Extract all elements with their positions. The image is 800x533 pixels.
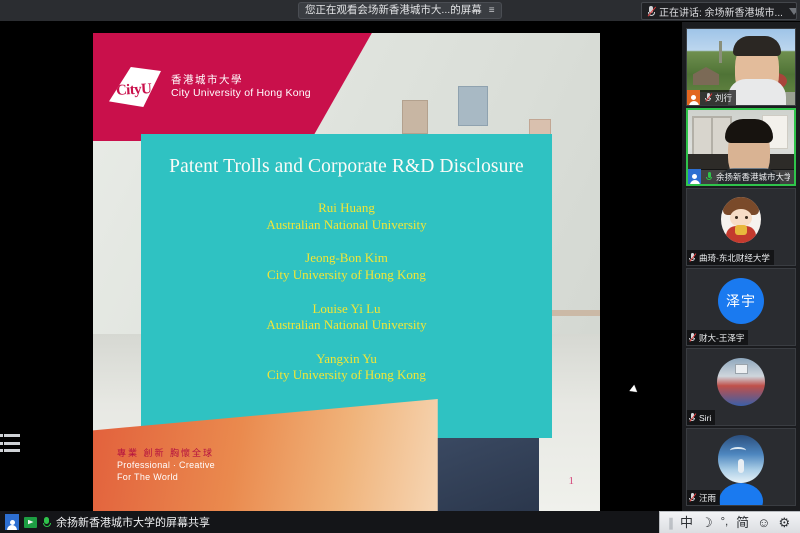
motto-cn: 專業 創新 胸懷全球 [117,447,215,459]
window-controls: ⤺ [789,5,797,17]
participant-tile[interactable]: 泽宇 财大-王泽宇 [686,268,796,346]
blue-person-icon [5,514,19,530]
mic-muted-icon [647,5,655,17]
hamburger-icon[interactable]: ≡ [489,6,495,16]
mic-on-icon [42,516,51,529]
participant-name: Siri [699,413,711,423]
top-bar: 您正在观看会场新香港城市大...的屏幕 ≡ 正在讲话: 余场新香港城市... ⤺ [0,0,800,22]
motto-en-line2: For The World [117,471,215,483]
participant-tile[interactable]: 汪雨 [686,428,796,506]
participant-tile[interactable]: 刘行 [686,28,796,106]
drag-grip-icon[interactable]: ∥ [668,516,672,530]
photo-avatar [717,358,765,406]
author-name: Louise Yi Lu [141,301,552,318]
participant-name: 财大-王泽宇 [699,332,744,344]
slide-title-card: Patent Trolls and Corporate R&D Disclosu… [141,134,552,438]
active-speaker-indicator[interactable]: 正在讲话: 余场新香港城市... ⤺ [641,2,797,20]
slide-title: Patent Trolls and Corporate R&D Disclosu… [169,156,524,178]
mouse-cursor [629,385,639,396]
moon-icon[interactable]: ☽ [701,516,713,529]
author-affiliation: Australian National University [141,317,552,334]
author-affiliation: City University of Hong Kong [141,367,552,384]
active-speaker-label: 正在讲话: 余场新香港城市... [659,4,783,19]
mic-muted-icon [689,252,696,263]
cartoon-avatar-icon [721,197,761,243]
screen-share-label: 余扬新香港城市大学的屏幕共享 [56,514,210,530]
participant-namebar: 曲琦-东北财经大学 [687,250,774,265]
participant-tile[interactable]: 余扬新香港城市大学 [686,108,796,186]
author-entry: Rui Huang Australian National University [141,200,552,233]
slide-page-number: 1 [569,475,575,487]
shared-screen-stage[interactable]: CityU 香港城市大學 City University of Hong Kon… [0,22,680,511]
cityu-logo-mark-icon: CityU [109,67,161,107]
participant-name: 曲琦-东北财经大学 [699,252,770,264]
cityu-logo: CityU 香港城市大學 City University of Hong Kon… [109,67,311,107]
list-view-icon[interactable] [4,434,20,452]
author-name: Jeong-Bon Kim [141,250,552,267]
participant-filmstrip[interactable]: 刘行 余扬新香港城市大学 [682,22,800,511]
watching-screen-label: 您正在观看会场新香港城市大...的屏幕 [305,5,482,16]
author-name: Rui Huang [141,200,552,217]
participant-tile[interactable]: 曲琦-东北财经大学 [686,188,796,266]
cityu-name-cn: 香港城市大學 [171,74,311,87]
blue-person-icon [688,169,701,184]
ime-toolbar[interactable]: ∥ 中 ☽ °, 简 ☺ ⚙ [659,511,800,533]
mic-muted-icon [689,412,696,423]
simplified-toggle[interactable]: 简 [736,516,749,529]
cityu-name-en: City University of Hong Kong [171,87,311,100]
anime-avatar [718,435,764,483]
gear-icon[interactable]: ⚙ [778,516,790,529]
participant-name: 余扬新香港城市大学 [716,171,790,183]
author-entry: Jeong-Bon Kim City University of Hong Ko… [141,250,552,283]
screen-share-status-bar: 余扬新香港城市大学的屏幕共享 [0,511,682,533]
participant-name: 刘行 [715,92,732,104]
slide-motto: 專業 創新 胸懷全球 Professional · Creative For T… [117,447,215,483]
screen-share-icon [24,517,37,528]
punctuation-toggle[interactable]: °, [721,517,728,528]
author-name: Yangxin Yu [141,351,552,368]
participant-tile[interactable]: Siri [686,348,796,426]
participant-namebar: Siri [687,410,715,425]
author-entry: Yangxin Yu City University of Hong Kong [141,351,552,384]
mic-on-icon [706,171,713,182]
chevron-down-icon[interactable] [789,8,797,15]
watching-screen-pill[interactable]: 您正在观看会场新香港城市大...的屏幕 ≡ [298,2,502,19]
emoji-icon[interactable]: ☺ [757,516,770,529]
chinese-mode-toggle[interactable]: 中 [680,516,693,529]
cityu-logo-mark-text: CityU [116,81,152,100]
participant-name: 汪雨 [699,492,716,504]
mic-muted-icon [705,92,712,103]
author-entry: Louise Yi Lu Australian National Univers… [141,301,552,334]
mic-muted-icon [689,492,696,503]
participant-namebar: 财大-王泽宇 [687,330,748,345]
author-affiliation: Australian National University [141,217,552,234]
participant-namebar: 刘行 [687,90,736,105]
orange-person-icon [687,90,700,105]
initials-avatar: 泽宇 [718,278,764,324]
author-affiliation: City University of Hong Kong [141,267,552,284]
participant-namebar: 余扬新香港城市大学 [688,169,794,184]
slide-author-list: Rui Huang Australian National University… [141,200,552,384]
next-tile-peek [719,483,763,506]
zoom-meeting-window: 您正在观看会场新香港城市大...的屏幕 ≡ 正在讲话: 余场新香港城市... ⤺ [0,0,800,533]
motto-en-line1: Professional · Creative [117,459,215,471]
mic-muted-icon [689,332,696,343]
participant-namebar: 汪雨 [687,490,720,505]
presentation-slide: CityU 香港城市大學 City University of Hong Kon… [93,33,600,511]
